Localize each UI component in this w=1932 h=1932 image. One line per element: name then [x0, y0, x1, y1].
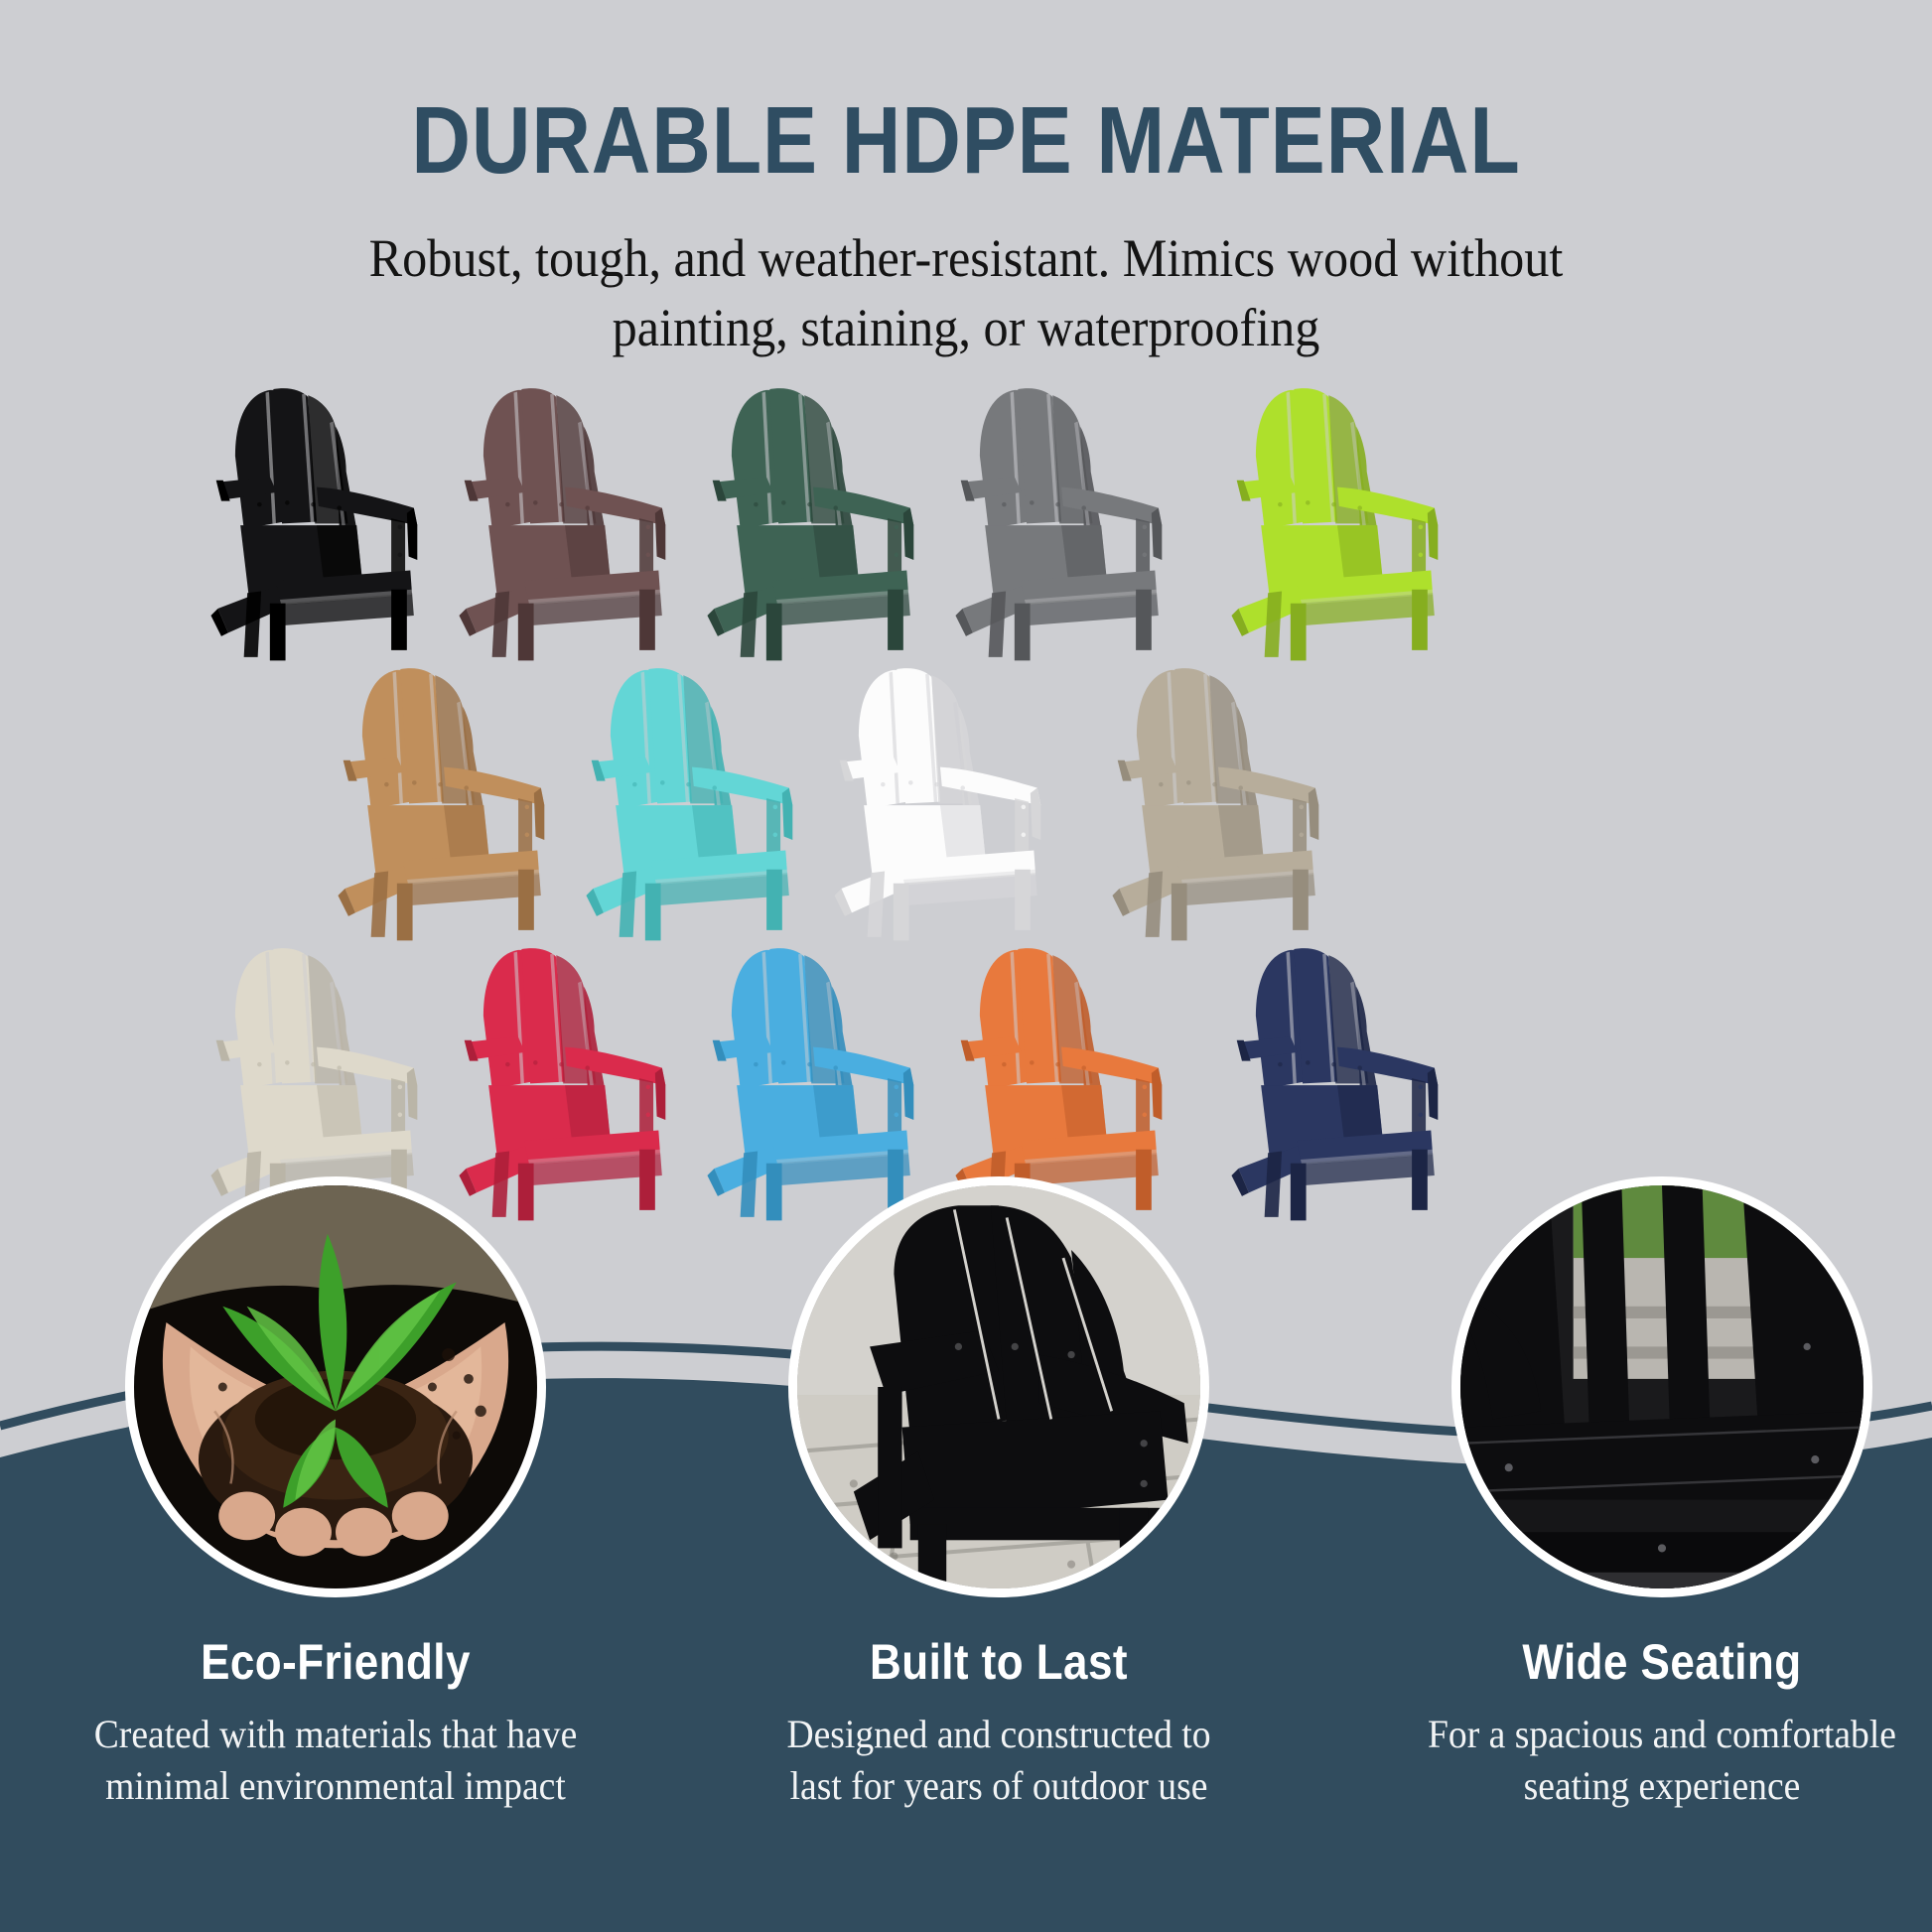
feature-desc-line-1: Created with materials that have	[56, 1709, 616, 1760]
feature-description-wide-seating: For a spacious and comfortable seating e…	[1382, 1709, 1932, 1812]
feature-built-to-last: Built to Last Designed and constructed t…	[701, 1176, 1297, 1812]
chair-swatch-teak[interactable]	[314, 655, 574, 943]
features-section: Eco-Friendly Created with materials that…	[0, 1176, 1932, 1932]
chair-swatch-dark-green[interactable]	[683, 375, 943, 663]
feature-title-wide-seating: Wide Seating	[1400, 1633, 1924, 1691]
feature-title-eco-friendly: Eco-Friendly	[73, 1633, 598, 1691]
feature-image-eco-friendly	[125, 1176, 546, 1597]
feature-desc-line-2: seating experience	[1382, 1760, 1932, 1812]
chair-swatch-lime-green[interactable]	[1207, 375, 1467, 663]
chair-swatch-gray[interactable]	[931, 375, 1191, 663]
chair-swatch-black[interactable]	[187, 375, 447, 663]
chair-swatch-white[interactable]	[810, 655, 1070, 943]
feature-description-eco-friendly: Created with materials that have minimal…	[56, 1709, 616, 1812]
feature-desc-line-2: minimal environmental impact	[56, 1760, 616, 1812]
feature-image-wide-seating	[1451, 1176, 1872, 1597]
chair-swatch-khaki[interactable]	[1088, 655, 1348, 943]
feature-desc-line-1: For a spacious and comfortable	[1382, 1709, 1932, 1760]
feature-image-built-to-last	[788, 1176, 1209, 1597]
feature-desc-line-1: Designed and constructed to	[719, 1709, 1279, 1760]
chair-swatch-turquoise[interactable]	[562, 655, 822, 943]
chair-swatch-brown[interactable]	[435, 375, 695, 663]
feature-title-built-to-last: Built to Last	[737, 1633, 1261, 1691]
feature-wide-seating: Wide Seating For a spacious and comforta…	[1364, 1176, 1932, 1812]
feature-desc-line-2: last for years of outdoor use	[719, 1760, 1279, 1812]
feature-eco-friendly: Eco-Friendly Created with materials that…	[38, 1176, 633, 1812]
feature-description-built-to-last: Designed and constructed to last for yea…	[719, 1709, 1279, 1812]
